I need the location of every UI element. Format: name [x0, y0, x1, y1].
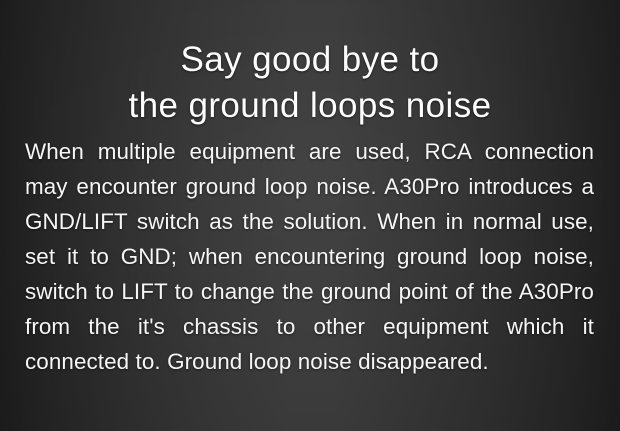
headline-line-1: Say good bye to: [0, 37, 620, 83]
headline-line-2: the ground loops noise: [0, 83, 620, 129]
promo-slide: Say good bye to the ground loops noise W…: [0, 0, 620, 431]
headline: Say good bye to the ground loops noise: [0, 37, 620, 129]
slide-content: Say good bye to the ground loops noise W…: [0, 0, 620, 431]
body-paragraph: When multiple equipment are used, RCA co…: [25, 134, 594, 379]
